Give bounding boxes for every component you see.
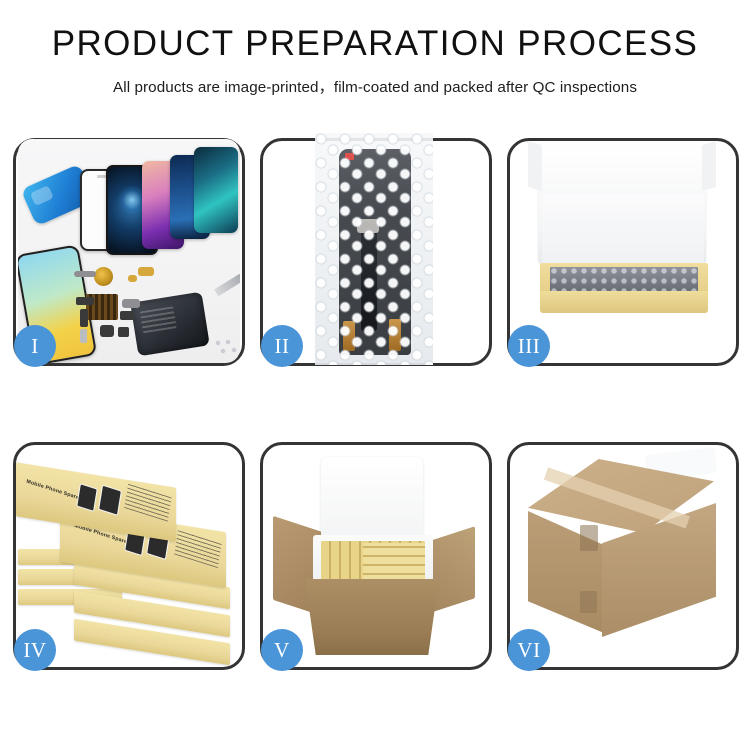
process-step-panel-6[interactable]: VI — [507, 442, 739, 670]
screws-part — [214, 339, 240, 357]
bubble-texture — [315, 133, 433, 365]
bracket-part — [76, 297, 94, 305]
small-flex-part — [80, 309, 88, 327]
process-step-panel-5[interactable]: V — [260, 442, 492, 670]
phone-logic-board — [130, 292, 210, 357]
foam-sheet — [542, 195, 704, 271]
button-flex-part — [120, 311, 134, 320]
step-badge-6: VI — [508, 629, 550, 671]
carton-seam-lower — [580, 591, 597, 613]
phone-teal-display — [194, 147, 238, 233]
page-subtitle: All products are image-printed，film-coat… — [0, 75, 750, 97]
speaker-part-icon — [94, 267, 113, 286]
gold-clip-part — [128, 275, 137, 282]
box-spec-lines — [124, 483, 172, 522]
step-badge-1: I — [14, 325, 56, 367]
box-spec-lines — [174, 529, 222, 568]
flex-cable-part — [74, 271, 96, 277]
camera-module-part — [122, 299, 140, 308]
parts-overview-image — [18, 139, 240, 363]
process-step-grid: I II III — [0, 138, 750, 670]
vibrator-part — [100, 325, 114, 337]
step-badge-5: V — [261, 629, 303, 671]
step-badge-3: III — [508, 325, 550, 367]
gold-connector-part — [138, 267, 154, 276]
process-step-panel-4[interactable]: Mobile Phone Spare Parts Mobile Phone Sp… — [13, 442, 245, 670]
carton-seam-upper — [580, 525, 598, 551]
process-step-panel-2[interactable]: II — [260, 138, 492, 366]
page-header: PRODUCT PREPARATION PROCESS All products… — [0, 0, 750, 97]
retail-box-stack: Mobile Phone Spare Parts Mobile Phone Sp… — [16, 457, 240, 665]
bubble-wrap-bag — [315, 133, 433, 365]
process-step-panel-1[interactable]: I — [13, 138, 245, 366]
tweezer-tool-icon — [214, 274, 240, 297]
box-phone-thumbnail — [98, 485, 122, 516]
step-badge-2: II — [261, 325, 303, 367]
carton-body — [305, 579, 439, 655]
step-badge-4: IV — [14, 629, 56, 671]
page-title: PRODUCT PREPARATION PROCESS — [0, 26, 750, 63]
process-step-panel-3[interactable]: III — [507, 138, 739, 366]
sim-tray-part — [80, 329, 87, 343]
inner-tray-front-edge — [540, 291, 708, 313]
battery-connector-part — [118, 327, 129, 337]
box-phone-thumbnail — [76, 483, 98, 512]
